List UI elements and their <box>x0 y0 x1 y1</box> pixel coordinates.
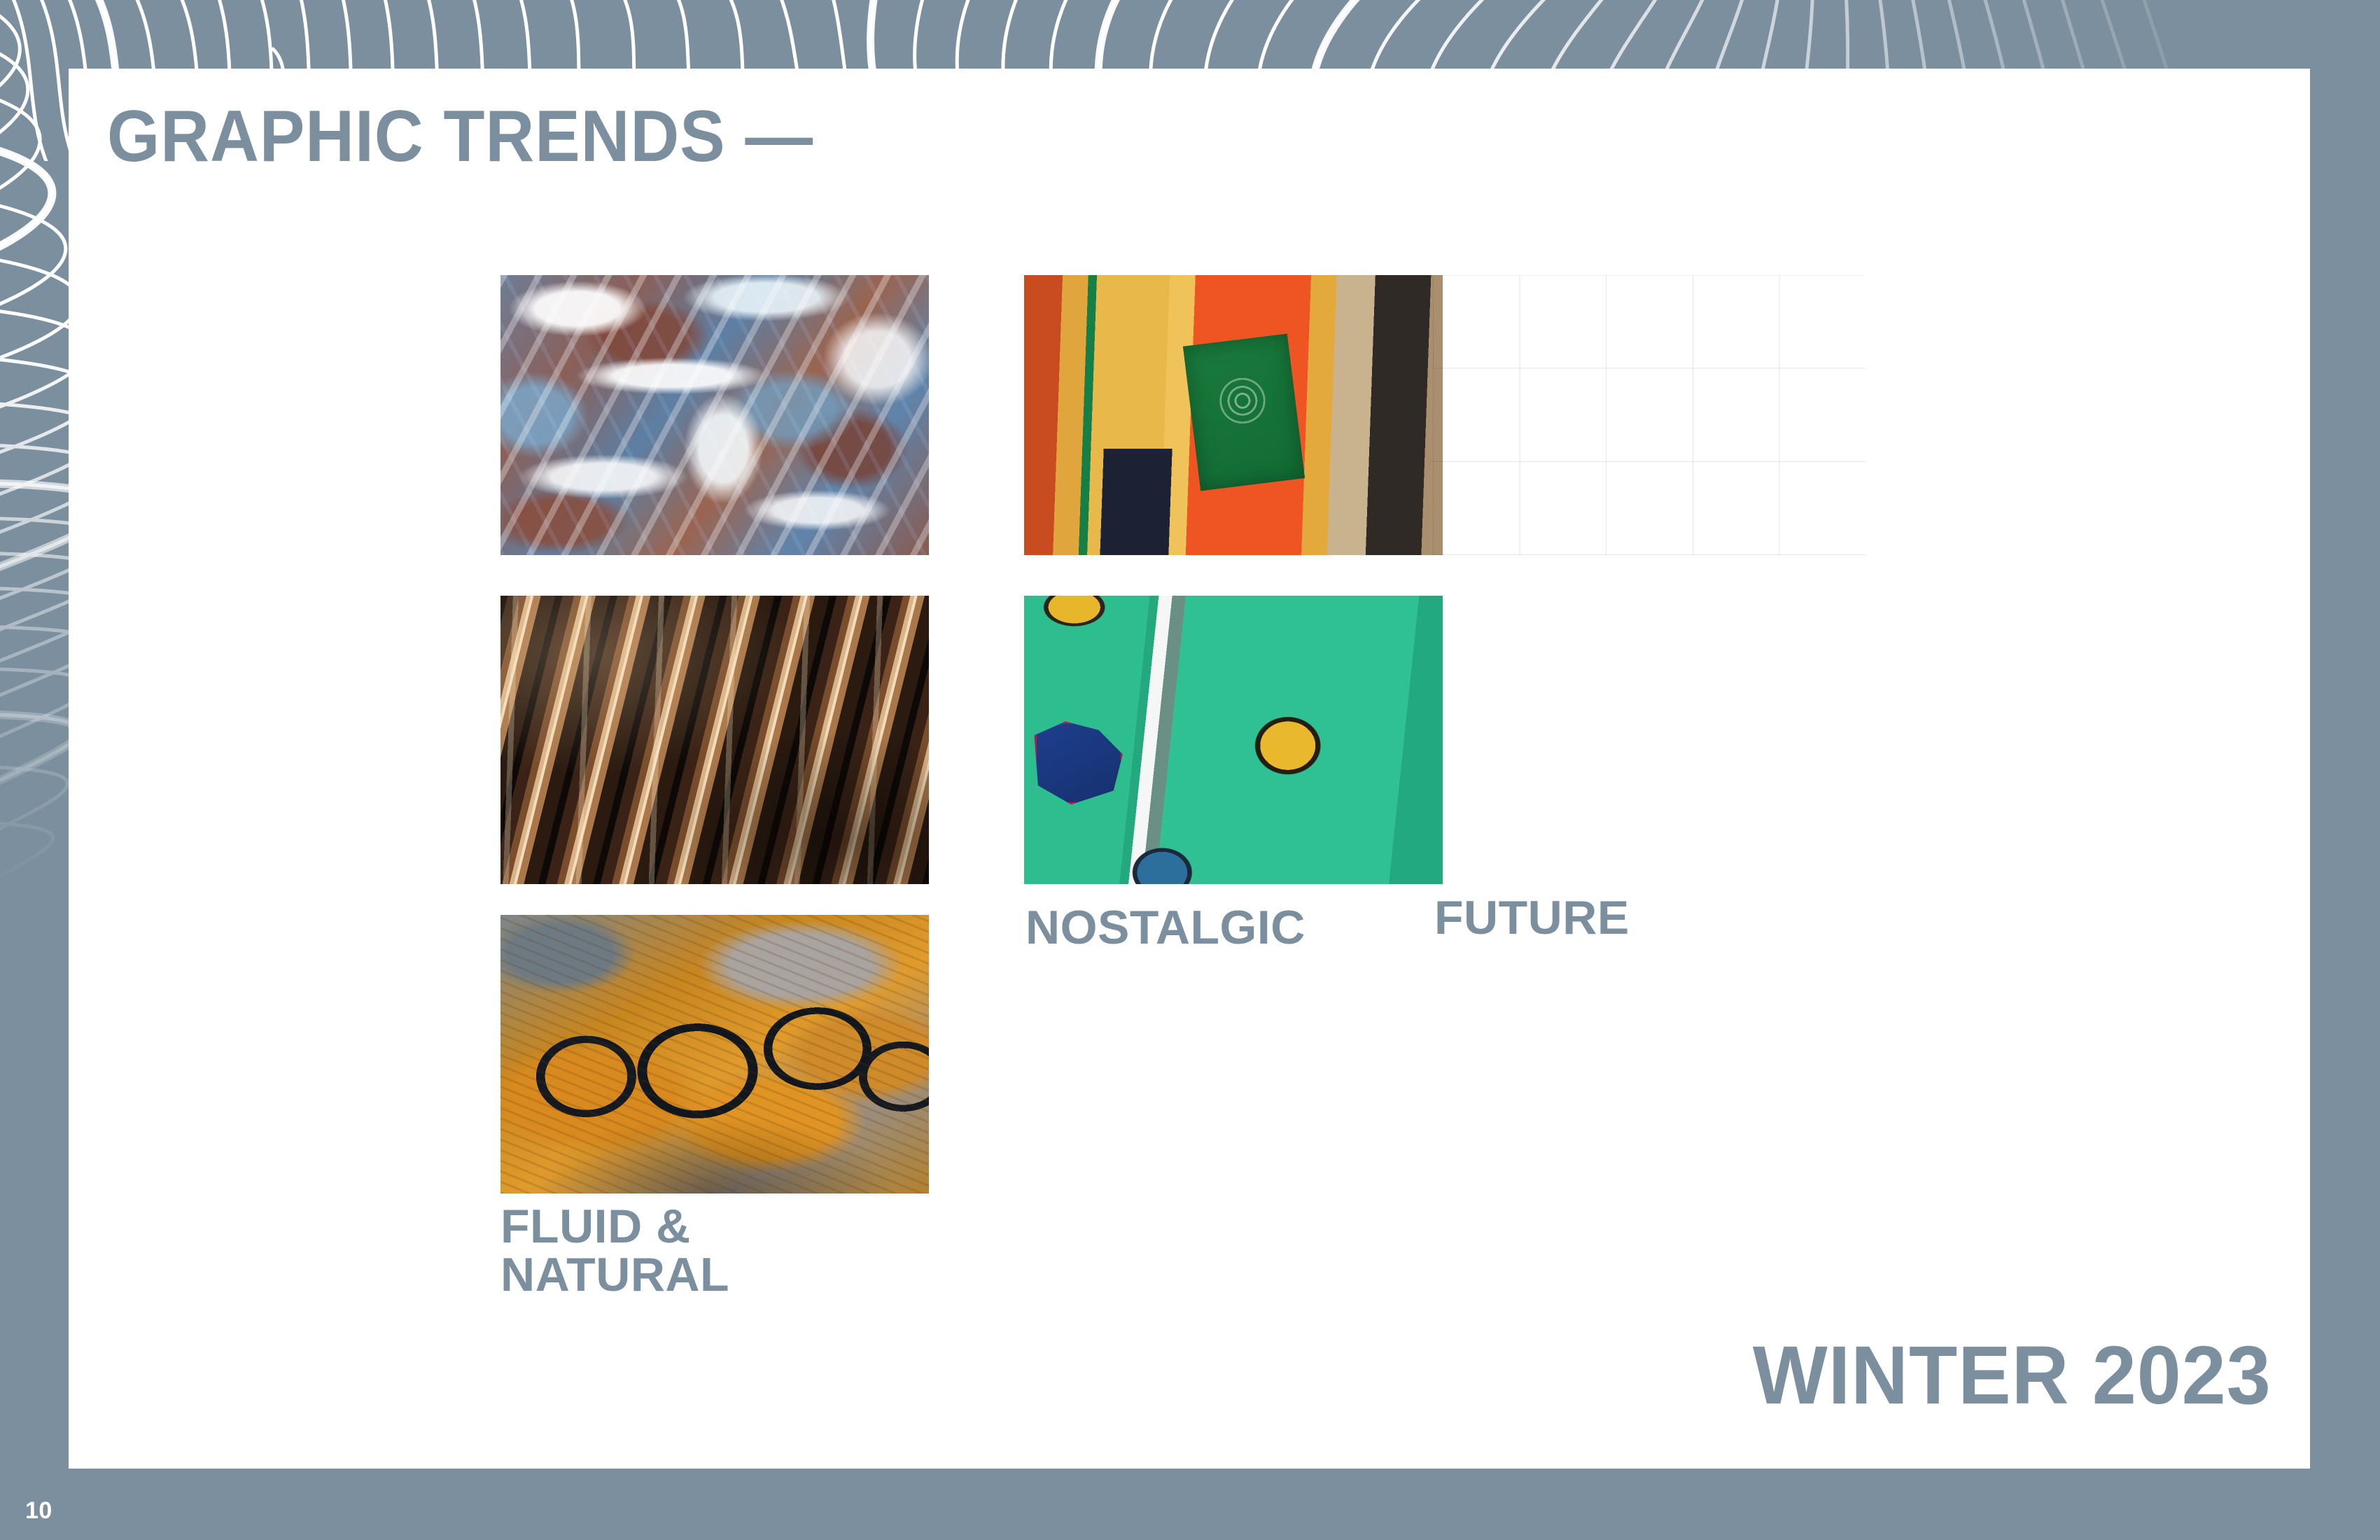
moodboard-image-braided-river[interactable] <box>500 275 929 555</box>
season-footer: WINTER 2023 <box>1753 1328 2271 1423</box>
green-polo-photo <box>1024 596 1443 884</box>
category-label-future: FUTURE <box>1434 894 1630 942</box>
moodboard-image-meander-river[interactable] <box>500 915 929 1193</box>
sand-dunes-photo <box>500 596 929 884</box>
slide-content-card: GRAPHIC TRENDS — FUTURE NOSTALGIC FLUID … <box>69 69 2310 1469</box>
thermal-map-photo <box>1433 275 1865 555</box>
moodboard-image-green-polo[interactable] <box>1024 596 1443 884</box>
braided-river-photo <box>500 275 929 555</box>
moodboard-image-thermal-map[interactable] <box>1433 275 1865 555</box>
category-label-nostalgic: NOSTALGIC <box>1025 904 1305 952</box>
meander-river-photo <box>500 915 929 1193</box>
page-title: GRAPHIC TRENDS — <box>107 95 813 178</box>
page-number: 10 <box>25 1497 52 1525</box>
slide-root: GRAPHIC TRENDS — FUTURE NOSTALGIC FLUID … <box>0 0 2380 1540</box>
category-label-fluid-natural: FLUID & NATURAL <box>500 1203 729 1300</box>
moodboard-image-sand-dunes[interactable] <box>500 596 929 884</box>
moodboard-image-vintage-outerwear[interactable] <box>1024 275 1443 555</box>
vintage-outerwear-photo <box>1024 275 1443 555</box>
